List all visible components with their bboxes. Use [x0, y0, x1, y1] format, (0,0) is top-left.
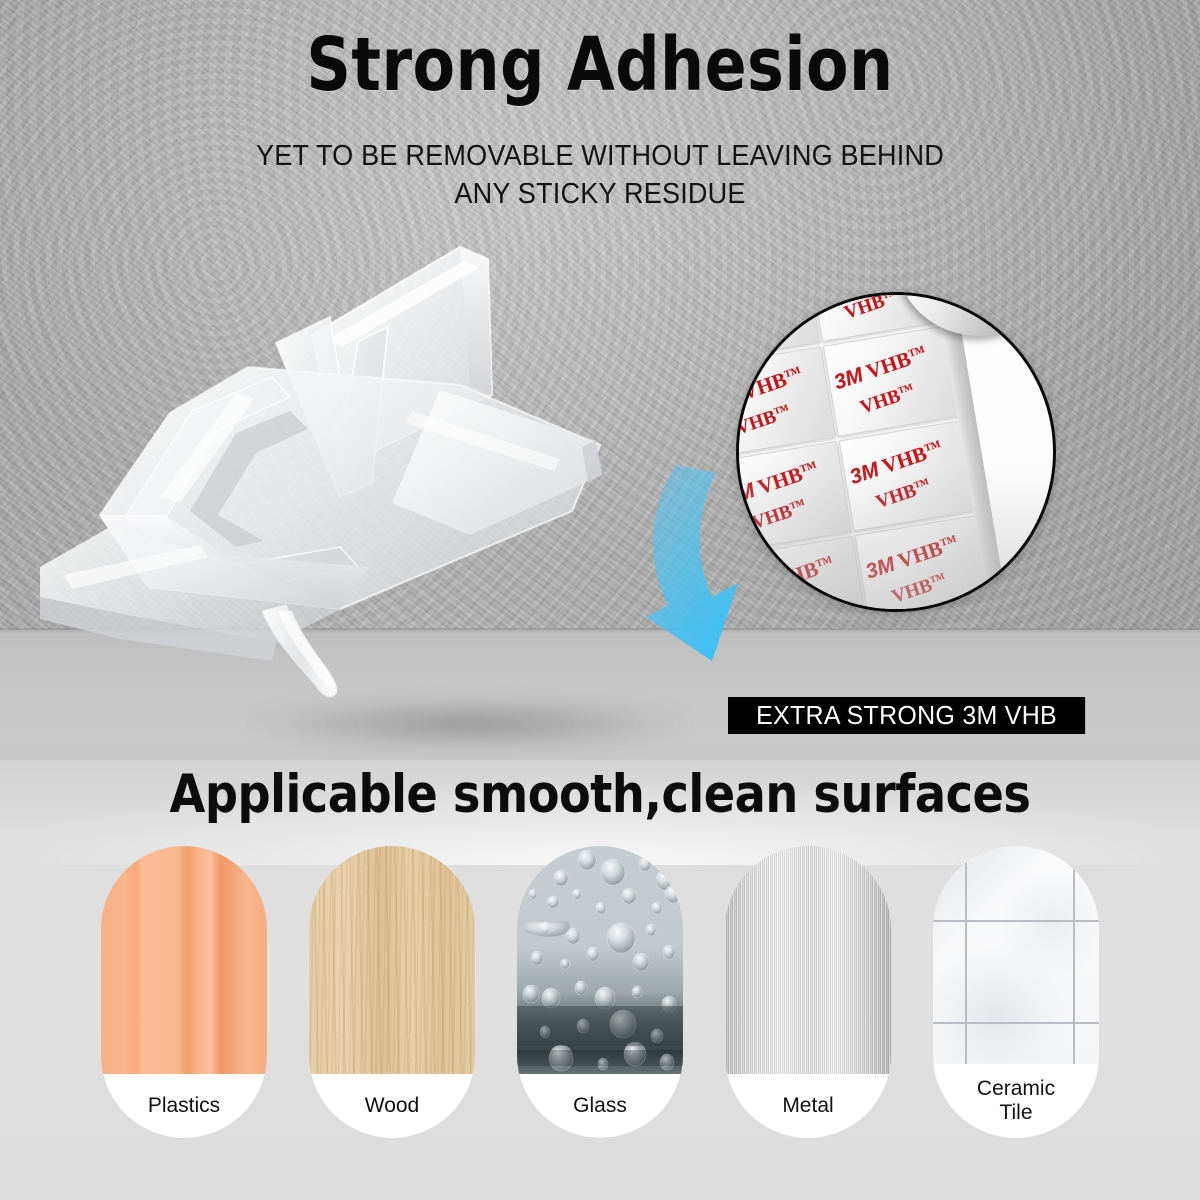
subtitle-line-1: YET TO BE REMOVABLE WITHOUT LEAVING BEHI…	[30, 138, 1170, 176]
swatch-label-line-2: Tile	[999, 1101, 1032, 1124]
tape-pad: 3M VHBTM VHBTM	[855, 515, 992, 612]
tape-pad: 3M VHBTM VHBTM	[839, 420, 976, 531]
product-image	[40, 215, 650, 695]
surface-swatch-wood: Wood	[309, 846, 475, 1138]
surfaces-heading: Applicable smooth,clean surfaces	[18, 764, 1182, 825]
swatch-label: Glass	[517, 1074, 683, 1138]
swatch-label: Plastics	[101, 1074, 267, 1138]
surface-swatch-metal: Metal	[725, 846, 891, 1138]
swatch-label-line-1: Ceramic	[977, 1077, 1055, 1100]
tape-pad: 3M VHBTM VHBTM	[736, 441, 852, 552]
swatch-label: Ceramic Tile	[933, 1064, 1099, 1138]
3m-vhb-tape-closeup: 3M VHBTM VHBTM 3M VHBTM VHBTM 3M VHBTM V…	[736, 292, 1056, 612]
tape-pad-stack: 3M VHBTM VHBTM 3M VHBTM VHBTM 3M VHBTM V…	[736, 292, 1056, 612]
infographic-canvas: Strong Adhesion YET TO BE REMOVABLE WITH…	[0, 0, 1200, 1200]
page-title: Strong Adhesion	[42, 22, 1158, 108]
subtitle-line-2: ANY STICKY RESIDUE	[30, 176, 1170, 214]
swatch-label: Wood	[309, 1074, 475, 1138]
surface-swatch-glass: Glass	[517, 846, 683, 1138]
page-subtitle: YET TO BE REMOVABLE WITHOUT LEAVING BEHI…	[30, 138, 1170, 214]
status-badge: EXTRA STRONG 3M VHB	[728, 697, 1085, 734]
surface-swatch-plastics: Plastics	[101, 846, 267, 1138]
surface-swatch-ceramic-tile: Ceramic Tile	[933, 846, 1099, 1138]
swatch-label: Metal	[725, 1074, 891, 1138]
tape-pad: 3M VHBTM VHBTM	[736, 346, 836, 457]
tape-pad: 3M VHBTM VHBTM	[823, 326, 960, 437]
surface-swatch-row: Plastics Wood	[0, 846, 1200, 1146]
